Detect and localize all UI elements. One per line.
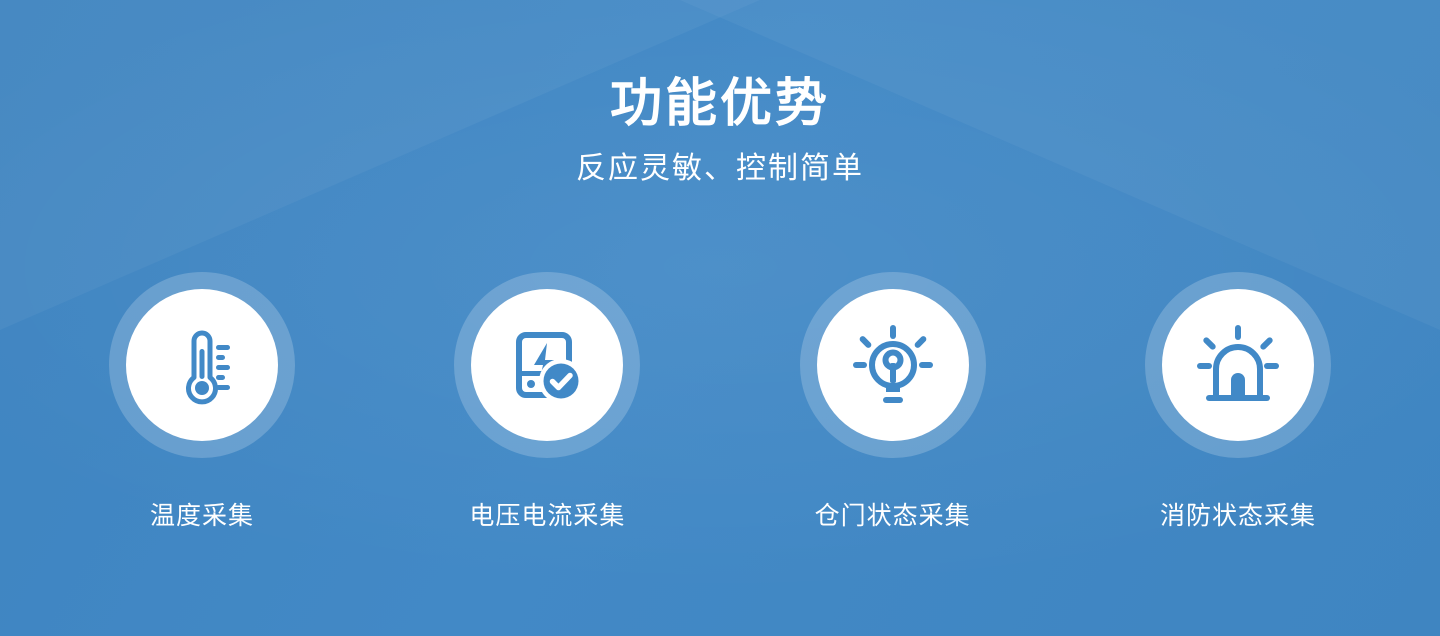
feature-item-temperature[interactable]: 温度采集 (72, 272, 332, 529)
icon-badge (1162, 289, 1314, 441)
feature-item-voltage-current[interactable]: 电压电流采集 (417, 272, 677, 529)
icon-badge (126, 289, 278, 441)
icon-badge-ring (800, 272, 986, 458)
icon-badge-ring (1145, 272, 1331, 458)
icon-badge-ring (109, 272, 295, 458)
alarm-beacon-icon (1192, 319, 1284, 411)
feature-item-door-status[interactable]: 仓门状态采集 (763, 272, 1023, 529)
page-subtitle: 反应灵敏、控制简单 (0, 154, 1440, 184)
feature-item-fire-status[interactable]: 消防状态采集 (1108, 272, 1368, 529)
icon-badge (817, 289, 969, 441)
feature-label: 温度采集 (150, 504, 254, 529)
feature-highlights-banner: 功能优势 反应灵敏、控制简单 (0, 0, 1440, 636)
feature-list: 温度采集 (72, 272, 1368, 529)
power-meter-check-icon (501, 319, 593, 411)
icon-badge (471, 289, 623, 441)
thermometer-icon (156, 319, 248, 411)
heading-block: 功能优势 反应灵敏、控制简单 (0, 78, 1440, 184)
page-title: 功能优势 (0, 78, 1440, 130)
feature-label: 消防状态采集 (1160, 504, 1316, 529)
feature-label: 电压电流采集 (469, 504, 625, 529)
lightbulb-icon (847, 319, 939, 411)
icon-badge-ring (454, 272, 640, 458)
feature-label: 仓门状态采集 (815, 504, 971, 529)
